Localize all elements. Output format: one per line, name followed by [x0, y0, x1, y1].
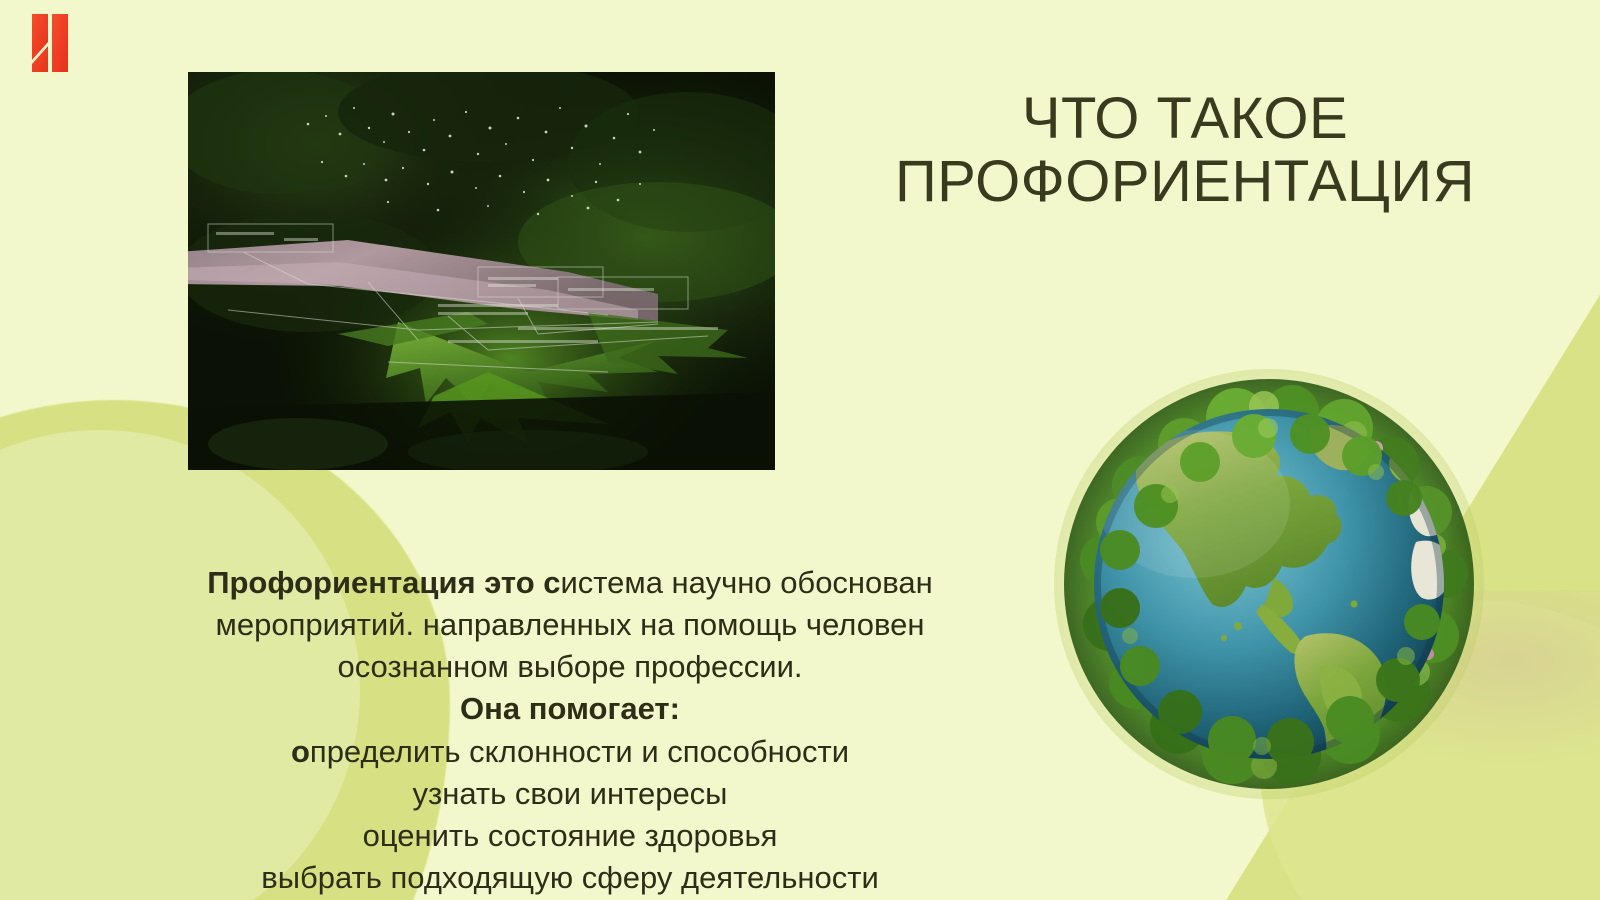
forest-photo — [188, 72, 775, 470]
body-text-line: мероприятий. направленных на помощь чело… — [90, 604, 1050, 646]
body-text-emphasis: Она помогает: — [460, 691, 680, 726]
body-text-line: Она помогает: — [90, 688, 1050, 730]
page-title: ЧТО ТАКОЕ ПРОФОРИЕНТАЦИЯ — [790, 88, 1580, 213]
body-text-line: осознанном выборе профессии. — [90, 646, 1050, 688]
body-text-line: выбрать подходящую сферу деятельности — [90, 857, 1050, 899]
body-text-line: узнать свои интересы — [90, 773, 1050, 815]
body-text-line: определить склонности и способности — [90, 731, 1050, 773]
body-text-line: оценить состояние здоровья — [90, 815, 1050, 857]
stylized-letter-logo-icon — [28, 12, 84, 74]
globe-illustration — [1024, 336, 1514, 826]
body-text-block: Профориентация это система научно обосно… — [90, 562, 1050, 899]
body-text-emphasis: о — [291, 734, 310, 769]
body-text-emphasis: Профориентация это с — [207, 565, 560, 600]
slide-canvas: ЧТО ТАКОЕ ПРОФОРИЕНТАЦИЯ Профориентация … — [0, 0, 1600, 900]
body-text-line: Профориентация это система научно обосно… — [90, 562, 1050, 604]
